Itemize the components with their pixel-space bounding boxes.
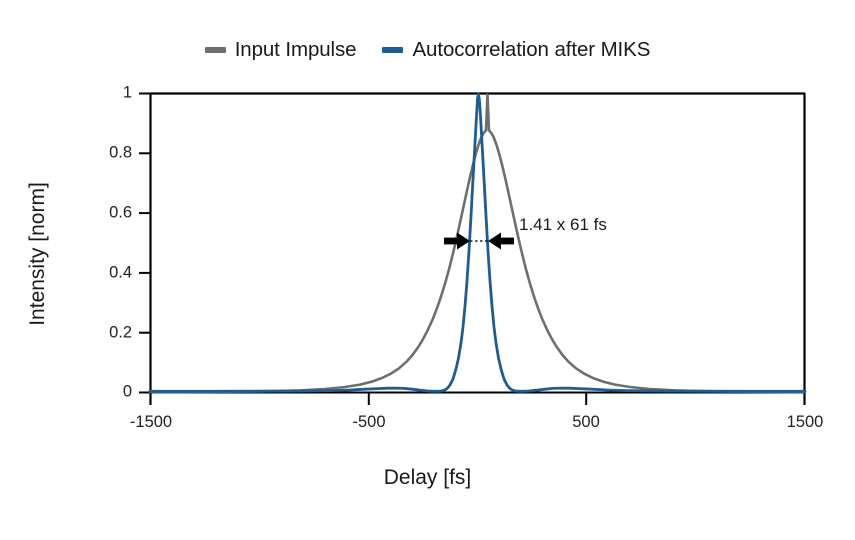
- y-tick-label-0-2: 0.2: [92, 324, 132, 343]
- y-tick-label-0-4: 0.4: [92, 264, 132, 283]
- axis-frame: [140, 93, 805, 404]
- series-line-input-impulse: [150, 95, 805, 393]
- y-tick-label-0-6: 0.6: [92, 204, 132, 223]
- y-axis-title: Intensity [norm]: [26, 154, 50, 354]
- chart-figure: Input Impulse Autocorrelation after MIKS: [0, 0, 855, 540]
- y-axis-ticks: [139, 94, 151, 393]
- x-axis-ticks: [151, 392, 805, 405]
- y-tick-label-1: 1: [92, 84, 132, 103]
- y-tick-label-0: 0: [92, 383, 132, 402]
- fwhm-annotation-label: 1.41 x 61 fs: [519, 215, 607, 235]
- x-tick-label-neg500: -500: [352, 413, 385, 432]
- x-axis-title: Delay [fs]: [0, 466, 855, 490]
- series-line-autocorrelation: [150, 94, 805, 391]
- y-tick-label-0-8: 0.8: [92, 144, 132, 163]
- x-tick-label-500: 500: [572, 413, 600, 432]
- x-tick-label-1500: 1500: [787, 413, 824, 432]
- x-tick-label-neg1500: -1500: [130, 413, 172, 432]
